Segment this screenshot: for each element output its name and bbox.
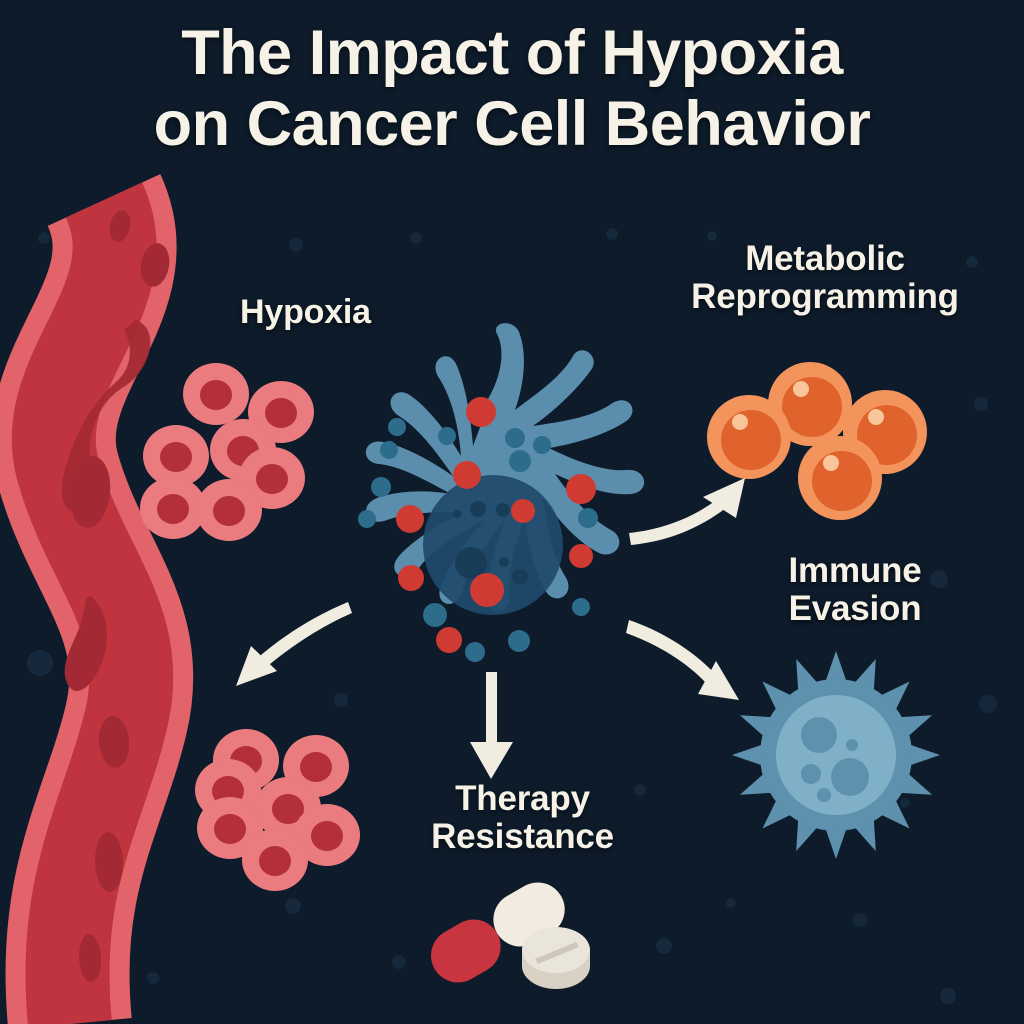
- infographic-illustration: [0, 0, 1024, 1024]
- immune-cell-body: [776, 695, 896, 815]
- infographic-canvas: The Impact of Hypoxia on Cancer Cell Beh…: [0, 0, 1024, 1024]
- tablet-pill: [522, 927, 590, 989]
- immune-cell: [732, 651, 940, 859]
